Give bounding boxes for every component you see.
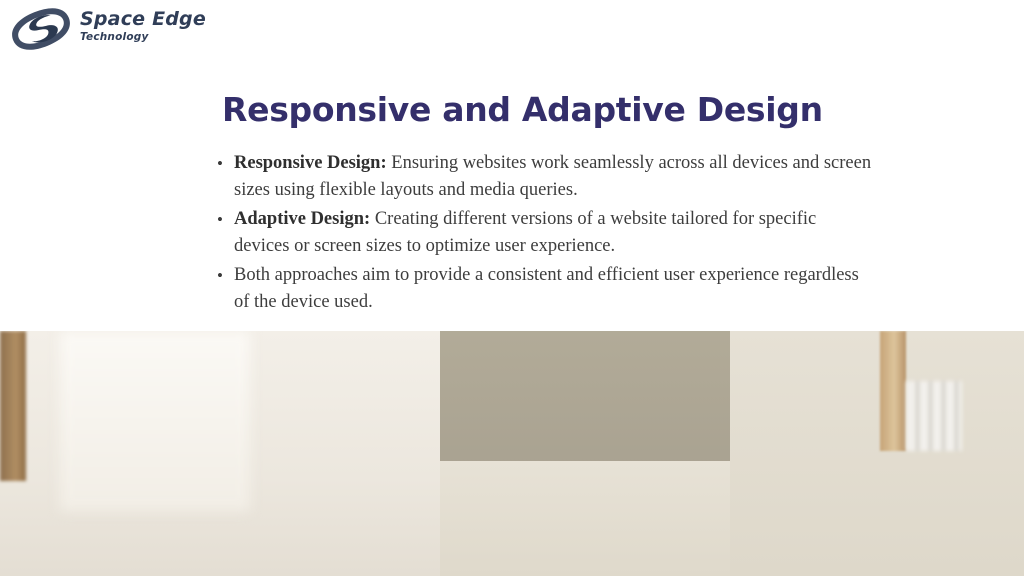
wall-accent — [440, 331, 740, 471]
bullet-lead: Responsive Design: — [234, 153, 387, 173]
list-item: Both approaches aim to provide a consist… — [214, 262, 874, 316]
brand-tagline: Technology — [80, 31, 206, 44]
list-item: Responsive Design: Ensuring websites wor… — [214, 150, 874, 204]
bullet-lead: Adaptive Design: — [234, 209, 370, 229]
office-meeting-photo — [0, 331, 1024, 576]
wall-lower — [440, 461, 740, 576]
brand-logo: Space Edge Technology — [8, 5, 238, 53]
window-light — [60, 331, 250, 511]
wall-right — [730, 331, 1024, 576]
binders — [906, 381, 962, 451]
wooden-bookshelf — [880, 331, 906, 451]
brand-name: Space Edge — [80, 9, 206, 29]
list-item: Adaptive Design: Creating different vers… — [214, 206, 874, 260]
bullet-list: Responsive Design: Ensuring websites wor… — [214, 150, 874, 318]
bullet-text: Both approaches aim to provide a consist… — [234, 265, 859, 312]
presentation-slide: Space Edge Technology Responsive and Ada… — [0, 0, 1024, 576]
swirl-ellipse-icon — [8, 7, 74, 51]
page-title: Responsive and Adaptive Design — [222, 90, 823, 130]
wooden-post — [0, 331, 26, 481]
